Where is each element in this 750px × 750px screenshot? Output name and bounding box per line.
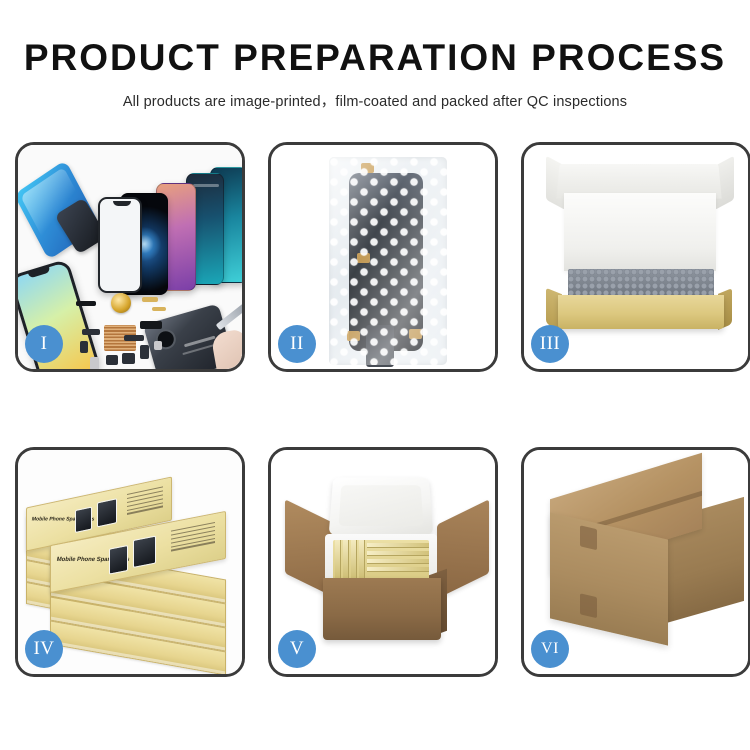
lid-product-photo-top-1 bbox=[75, 506, 92, 533]
step-badge-2: II bbox=[278, 325, 316, 363]
component-chip-7 bbox=[140, 321, 162, 329]
inner-box-face-1 bbox=[367, 543, 429, 548]
inner-box-face-3 bbox=[367, 559, 429, 564]
page-title: PRODUCT PREPARATION PROCESS bbox=[0, 39, 750, 76]
component-flex-2 bbox=[152, 307, 166, 311]
lid-product-photo-top-2 bbox=[97, 498, 117, 527]
step-3-image: III bbox=[524, 145, 748, 369]
step-2-image: II bbox=[271, 145, 495, 369]
inner-box-face-2 bbox=[367, 551, 429, 556]
retail-box-stack: Mobile Phone Spare Parts Mobile Phone Sp… bbox=[24, 472, 242, 662]
lid-spec-text-front bbox=[171, 522, 215, 554]
step-badge-5: V bbox=[278, 630, 316, 668]
header: PRODUCT PREPARATION PROCESS All products… bbox=[0, 0, 750, 111]
component-chip-3 bbox=[90, 357, 99, 369]
grey-bubble-wrap bbox=[568, 269, 714, 297]
step-5-image: V bbox=[271, 450, 495, 674]
carton-tab-upper bbox=[580, 525, 597, 550]
component-bar-1 bbox=[76, 301, 96, 306]
inner-box-face-4 bbox=[367, 567, 429, 572]
page-subtitle: All products are image-printed，film-coat… bbox=[0, 90, 750, 111]
bubble-wrap-bag-graphic bbox=[329, 157, 447, 365]
inner-box-edge-3 bbox=[351, 540, 357, 580]
component-chip-9 bbox=[154, 341, 162, 350]
component-chip-5 bbox=[122, 353, 135, 364]
carton-tab-lower bbox=[580, 593, 597, 618]
component-chip-2 bbox=[80, 341, 88, 353]
speaker-module-graphic bbox=[111, 293, 131, 313]
step-badge-6: VI bbox=[531, 630, 569, 668]
process-step-grid: I II bbox=[15, 142, 735, 677]
process-step-5: V bbox=[268, 447, 498, 677]
step-badge-4: IV bbox=[25, 630, 63, 668]
step-1-image: I bbox=[18, 145, 242, 369]
process-step-3: III bbox=[521, 142, 750, 372]
step-6-image: VI bbox=[524, 450, 748, 674]
inner-box-edge-1 bbox=[335, 540, 341, 580]
component-flex-1 bbox=[142, 297, 158, 302]
inner-box-edge-2 bbox=[343, 540, 349, 580]
kraft-inner-box-front bbox=[558, 295, 724, 329]
step-badge-3: III bbox=[531, 325, 569, 363]
display-assembly-1-graphic bbox=[98, 197, 142, 293]
component-chip-4 bbox=[106, 355, 118, 365]
step-4-image: Mobile Phone Spare Parts Mobile Phone Sp… bbox=[18, 450, 242, 674]
lid-product-photo-front-1 bbox=[109, 545, 128, 575]
process-step-6: VI bbox=[521, 447, 750, 677]
white-foam-sheet bbox=[564, 193, 716, 271]
component-chip-1 bbox=[82, 329, 100, 335]
process-step-4: Mobile Phone Spare Parts Mobile Phone Sp… bbox=[15, 447, 245, 677]
lid-spec-text-top bbox=[127, 486, 163, 517]
component-chip-8 bbox=[140, 345, 149, 359]
plastic-sheen bbox=[329, 157, 447, 365]
inner-box-edge-4 bbox=[359, 540, 365, 580]
product-preparation-infographic: PRODUCT PREPARATION PROCESS All products… bbox=[0, 0, 750, 750]
process-step-2: II bbox=[268, 142, 498, 372]
process-step-1: I bbox=[15, 142, 245, 372]
step-badge-1: I bbox=[25, 325, 63, 363]
shipping-carton-front bbox=[323, 578, 441, 640]
lid-product-photo-front-2 bbox=[133, 536, 156, 568]
styrofoam-lid bbox=[329, 477, 434, 535]
component-chip-6 bbox=[124, 335, 144, 341]
yellow-retail-boxes-inside bbox=[333, 540, 429, 580]
